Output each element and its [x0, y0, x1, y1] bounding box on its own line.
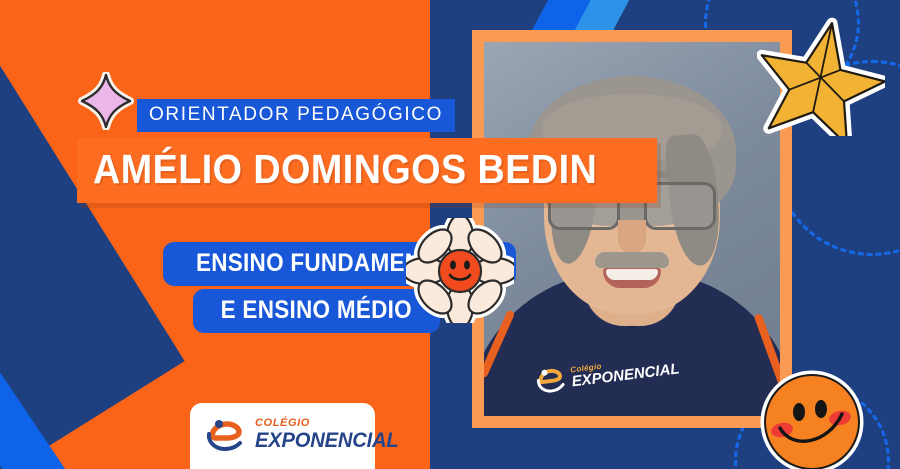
- star-icon: [757, 14, 885, 136]
- segment-pill-medio: E ENSINO MÉDIO: [193, 289, 440, 333]
- teeth: [606, 269, 658, 280]
- brand-logo-card: COLÉGIO EXPONENCIAL: [190, 403, 375, 469]
- daisy-flower-icon: [406, 218, 514, 323]
- mouth: [603, 268, 661, 288]
- sparkle-icon: [78, 72, 134, 130]
- portrait-photo-frame: Colégio EXPONENCIAL: [472, 30, 792, 428]
- brand-logo-e-icon: [206, 417, 248, 451]
- smiley-face-icon: [758, 368, 866, 469]
- person-name-band: AMÉLIO DOMINGOS BEDIN: [77, 138, 657, 203]
- portrait-photo: Colégio EXPONENCIAL: [484, 42, 780, 416]
- role-badge: ORIENTADOR PEDAGÓGICO: [137, 99, 455, 132]
- shirt-logo-e-icon: [535, 365, 568, 394]
- mustache: [595, 252, 669, 268]
- promo-banner: Colégio EXPONENCIAL: [0, 0, 900, 469]
- nose: [618, 220, 646, 254]
- segment-pill-medio-label: E ENSINO MÉDIO: [221, 296, 412, 325]
- brand-logo-top-word: COLÉGIO: [255, 418, 405, 429]
- person-name: AMÉLIO DOMINGOS BEDIN: [93, 146, 597, 193]
- brand-logo-main-word: EXPONENCIAL: [255, 430, 399, 451]
